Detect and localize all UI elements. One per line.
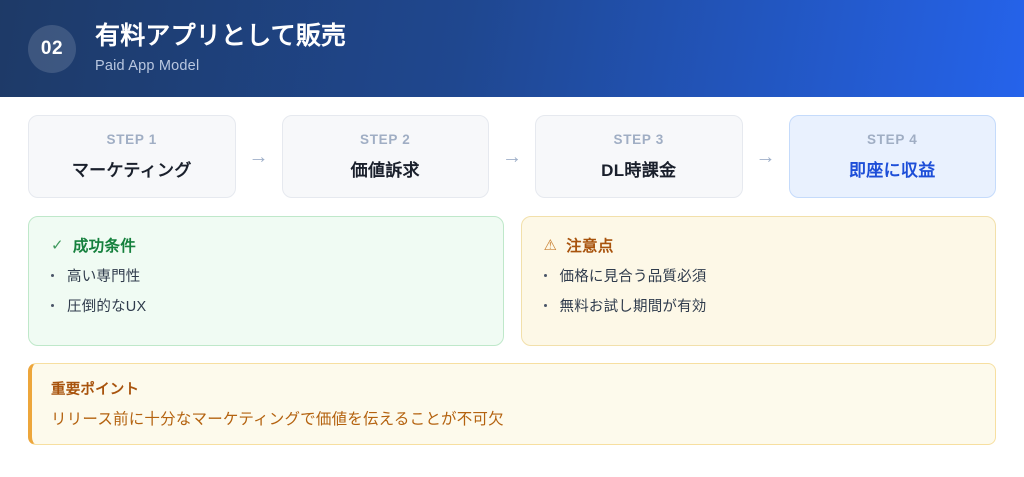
success-card-title: 成功条件 (73, 234, 136, 256)
step-label-1: STEP 1 (107, 132, 157, 147)
list-item: 価格に見合う品質必須 (544, 269, 974, 286)
step-title-3: DL時課金 (601, 156, 676, 181)
warning-card-header: ⚠ 注意点 (544, 234, 974, 256)
step-title-1: マーケティング (72, 156, 192, 181)
step-label-4: STEP 4 (867, 132, 917, 147)
step-title-4: 即座に収益 (849, 156, 936, 181)
list-item-label: 高い専門性 (67, 269, 141, 286)
step-arrow-icon-1: → (236, 115, 282, 198)
page-subtitle: Paid App Model (95, 58, 346, 75)
step-card-1[interactable]: STEP 1 マーケティング (28, 115, 236, 198)
step-title-2: 価値訴求 (351, 156, 420, 181)
list-item: 無料お試し期間が有効 (544, 299, 974, 316)
list-item: 圧倒的なUX (51, 299, 481, 316)
success-card-header: ✓ 成功条件 (51, 234, 481, 256)
bullet-icon (544, 304, 547, 307)
bullet-icon (51, 304, 54, 307)
page-header: 02 有料アプリとして販売 Paid App Model (0, 0, 1024, 97)
key-point-banner: 重要ポイント リリース前に十分なマーケティングで価値を伝えることが不可欠 (28, 363, 996, 445)
key-point-banner-wrap: 重要ポイント リリース前に十分なマーケティングで価値を伝えることが不可欠 (0, 346, 1024, 445)
warning-card-title: 注意点 (566, 234, 613, 256)
check-icon: ✓ (51, 236, 64, 254)
success-card-list: 高い専門性 圧倒的なUX (51, 269, 481, 317)
bullet-icon (51, 274, 54, 277)
bullet-icon (544, 274, 547, 277)
list-item-label: 圧倒的なUX (67, 299, 146, 316)
key-point-title: 重要ポイント (51, 378, 975, 399)
step-card-2[interactable]: STEP 2 価値訴求 (282, 115, 490, 198)
list-item-label: 無料お試し期間が有効 (560, 299, 707, 316)
list-item-label: 価格に見合う品質必須 (560, 269, 707, 286)
step-flow: STEP 1 マーケティング → STEP 2 価値訴求 → STEP 3 DL… (0, 97, 1024, 198)
step-label-3: STEP 3 (614, 132, 664, 147)
list-item: 高い専門性 (51, 269, 481, 286)
step-label-2: STEP 2 (360, 132, 410, 147)
warning-card-list: 価格に見合う品質必須 無料お試し期間が有効 (544, 269, 974, 317)
warning-triangle-icon: ⚠ (544, 236, 558, 254)
header-text-group: 有料アプリとして販売 Paid App Model (95, 22, 346, 75)
step-card-3[interactable]: STEP 3 DL時課金 (535, 115, 743, 198)
step-arrow-icon-2: → (489, 115, 535, 198)
section-number-badge: 02 (28, 25, 76, 73)
cautions-card: ⚠ 注意点 価格に見合う品質必須 無料お試し期間が有効 (521, 216, 997, 346)
step-card-4[interactable]: STEP 4 即座に収益 (789, 115, 997, 198)
page-title: 有料アプリとして販売 (95, 22, 346, 51)
success-conditions-card: ✓ 成功条件 高い専門性 圧倒的なUX (28, 216, 504, 346)
key-point-body: リリース前に十分なマーケティングで価値を伝えることが不可欠 (51, 407, 975, 429)
step-arrow-icon-3: → (743, 115, 789, 198)
info-card-row: ✓ 成功条件 高い専門性 圧倒的なUX ⚠ 注意点 価格に見合う品質必須 (0, 198, 1024, 346)
